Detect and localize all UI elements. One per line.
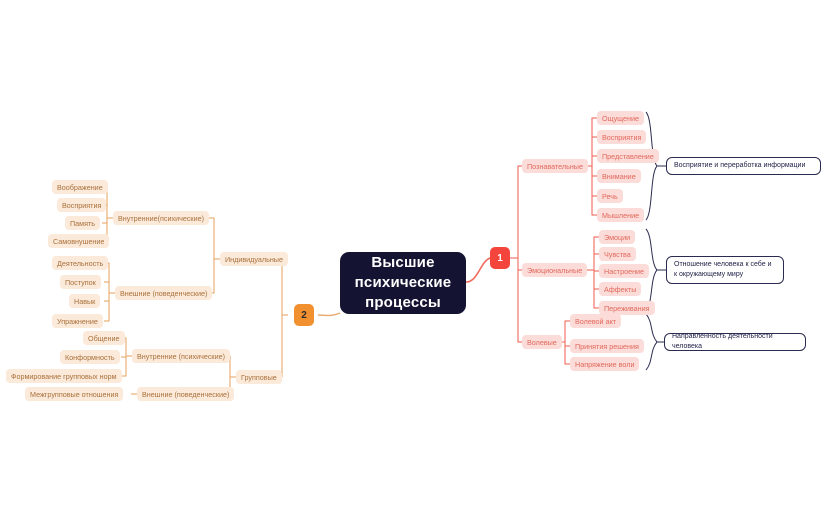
node-label: Речь xyxy=(602,192,618,201)
node-volitional-child-3[interactable]: Напряжение воли xyxy=(570,357,639,371)
node-label: Восприятия xyxy=(602,133,641,142)
node-label: Волевой акт xyxy=(575,317,616,326)
node-individual-internal-leaf-3[interactable]: Память xyxy=(65,216,100,230)
node-emotional-child-3[interactable]: Настроение xyxy=(599,264,649,278)
node-label: Общение xyxy=(88,334,120,343)
node-label: Ощущение xyxy=(602,114,639,123)
central-topic[interactable]: Высшие психические процессы xyxy=(340,252,466,314)
node-label: Принятия решения xyxy=(575,342,639,351)
node-label: Восприятия xyxy=(62,201,101,210)
node-label: Аффекты xyxy=(604,285,636,294)
badge-2[interactable]: 2 xyxy=(294,304,314,326)
node-label: Познавательные xyxy=(527,162,583,171)
node-label: Внешние (поведенческие) xyxy=(142,390,229,399)
node-label: Воображение xyxy=(57,183,103,192)
node-individual-external-leaf-2[interactable]: Поступок xyxy=(60,275,101,289)
central-topic-line-3: процессы xyxy=(365,293,441,313)
node-label: Навык xyxy=(74,297,95,306)
node-label: Групповые xyxy=(241,373,277,382)
node-individual-internal-group[interactable]: Внутренние(психические) xyxy=(113,211,209,225)
node-label: Мышление xyxy=(602,211,639,220)
node-group-internal-leaf-1[interactable]: Общение xyxy=(83,331,125,345)
node-emotional-child-5[interactable]: Переживания xyxy=(599,301,655,315)
node-individual-external-leaf-1[interactable]: Деятельность xyxy=(52,256,108,270)
node-group-internal-group[interactable]: Внутренние (психические) xyxy=(132,349,230,363)
node-volitional-category[interactable]: Волевые xyxy=(522,335,562,349)
node-cognitive-child-1[interactable]: Ощущение xyxy=(597,111,644,125)
note-text: Направленность деятельности человека xyxy=(672,332,798,352)
node-individual-internal-leaf-1[interactable]: Воображение xyxy=(52,180,108,194)
note-text: Отношение человека к себе и к окружающем… xyxy=(674,260,776,280)
node-label: Чувства xyxy=(604,250,631,259)
node-label: Конформность xyxy=(65,353,115,362)
node-label: Внимание xyxy=(602,172,636,181)
node-label: Внутренние (психические) xyxy=(137,352,225,361)
node-group-internal-leaf-2[interactable]: Конформность xyxy=(60,350,120,364)
node-emotional-child-1[interactable]: Эмоции xyxy=(599,230,635,244)
node-cognitive-category[interactable]: Познавательные xyxy=(522,159,588,173)
node-label: Внешние (поведенческие) xyxy=(120,289,207,298)
node-label: Эмоциональные xyxy=(527,266,582,275)
badge-2-label: 2 xyxy=(301,310,307,321)
node-label: Волевые xyxy=(527,338,557,347)
badge-1[interactable]: 1 xyxy=(490,247,510,269)
node-group-external-group[interactable]: Внешние (поведенческие) xyxy=(137,387,234,401)
node-label: Внутренние(психические) xyxy=(118,214,204,223)
node-cognitive-child-4[interactable]: Внимание xyxy=(597,169,641,183)
node-label: Память xyxy=(70,219,95,228)
node-group-external-leaf-1[interactable]: Межгрупповые отношения xyxy=(25,387,123,401)
node-volitional-child-1[interactable]: Волевой акт xyxy=(570,314,621,328)
node-cognitive-child-5[interactable]: Речь xyxy=(597,189,623,203)
node-emotional-child-4[interactable]: Аффекты xyxy=(599,282,641,296)
node-label: Межгрупповые отношения xyxy=(30,390,118,399)
node-label: Переживания xyxy=(604,304,650,313)
node-label: Эмоции xyxy=(604,233,630,242)
node-individual-external-group[interactable]: Внешние (поведенческие) xyxy=(115,286,212,300)
note-emotional[interactable]: Отношение человека к себе и к окружающем… xyxy=(666,256,784,284)
note-text: Восприятие и переработка информации xyxy=(674,161,805,171)
node-individual-external-leaf-4[interactable]: Упражнение xyxy=(52,314,103,328)
node-emotional-category[interactable]: Эмоциональные xyxy=(522,263,587,277)
node-label: Деятельность xyxy=(57,259,103,268)
node-label: Индивидуальные xyxy=(225,255,283,264)
node-volitional-child-2[interactable]: Принятия решения xyxy=(570,339,644,353)
node-label: Поступок xyxy=(65,278,96,287)
mindmap-canvas: Высшие психические процессы 1 2 Познават… xyxy=(0,0,829,513)
node-individual-category[interactable]: Индивидуальные xyxy=(220,252,288,266)
central-topic-line-1: Высшие xyxy=(371,253,434,273)
node-individual-external-leaf-3[interactable]: Навык xyxy=(69,294,100,308)
node-label: Настроение xyxy=(604,267,644,276)
node-cognitive-child-2[interactable]: Восприятия xyxy=(597,130,646,144)
node-group-category[interactable]: Групповые xyxy=(236,370,282,384)
note-cognitive[interactable]: Восприятие и переработка информации xyxy=(666,157,821,175)
node-cognitive-child-3[interactable]: Представление xyxy=(597,149,659,163)
node-emotional-child-2[interactable]: Чувства xyxy=(599,247,636,261)
node-cognitive-child-6[interactable]: Мышление xyxy=(597,208,644,222)
node-group-internal-leaf-3[interactable]: Формирование групповых норм xyxy=(6,369,122,383)
node-individual-internal-leaf-4[interactable]: Самовнушение xyxy=(48,234,109,248)
node-label: Формирование групповых норм xyxy=(11,372,117,381)
node-individual-internal-leaf-2[interactable]: Восприятия xyxy=(57,198,106,212)
note-volitional[interactable]: Направленность деятельности человека xyxy=(664,333,806,351)
node-label: Представление xyxy=(602,152,654,161)
node-label: Самовнушение xyxy=(53,237,104,246)
node-label: Упражнение xyxy=(57,317,98,326)
badge-1-label: 1 xyxy=(497,253,503,264)
node-label: Напряжение воли xyxy=(575,360,634,369)
central-topic-line-2: психические xyxy=(355,273,452,293)
